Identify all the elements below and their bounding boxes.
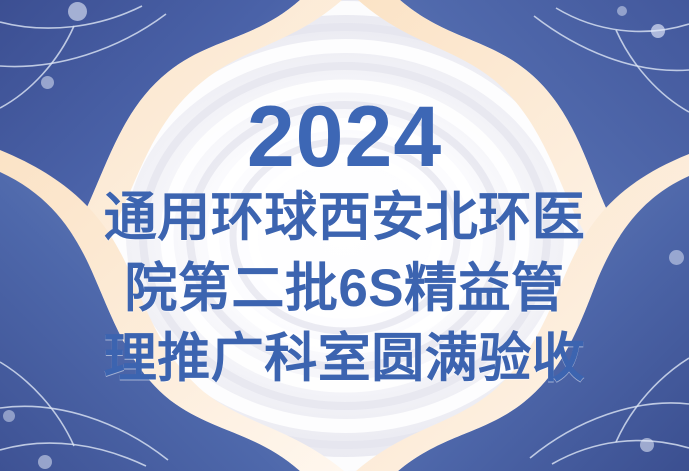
poster-title-block: 2024 通用环球西安北环医 院第二批6S精益管 理推广科室圆满验收: [0, 0, 689, 471]
headline-line-1: 通用环球西安北环医: [104, 183, 586, 253]
headline-line-2: 院第二批6S精益管: [124, 254, 564, 324]
headline-line-3: 理推广科室圆满验收: [104, 324, 586, 394]
poster-canvas: 2024 通用环球西安北环医 院第二批6S精益管 理推广科室圆满验收: [0, 0, 689, 471]
year-heading: 2024: [247, 96, 442, 179]
